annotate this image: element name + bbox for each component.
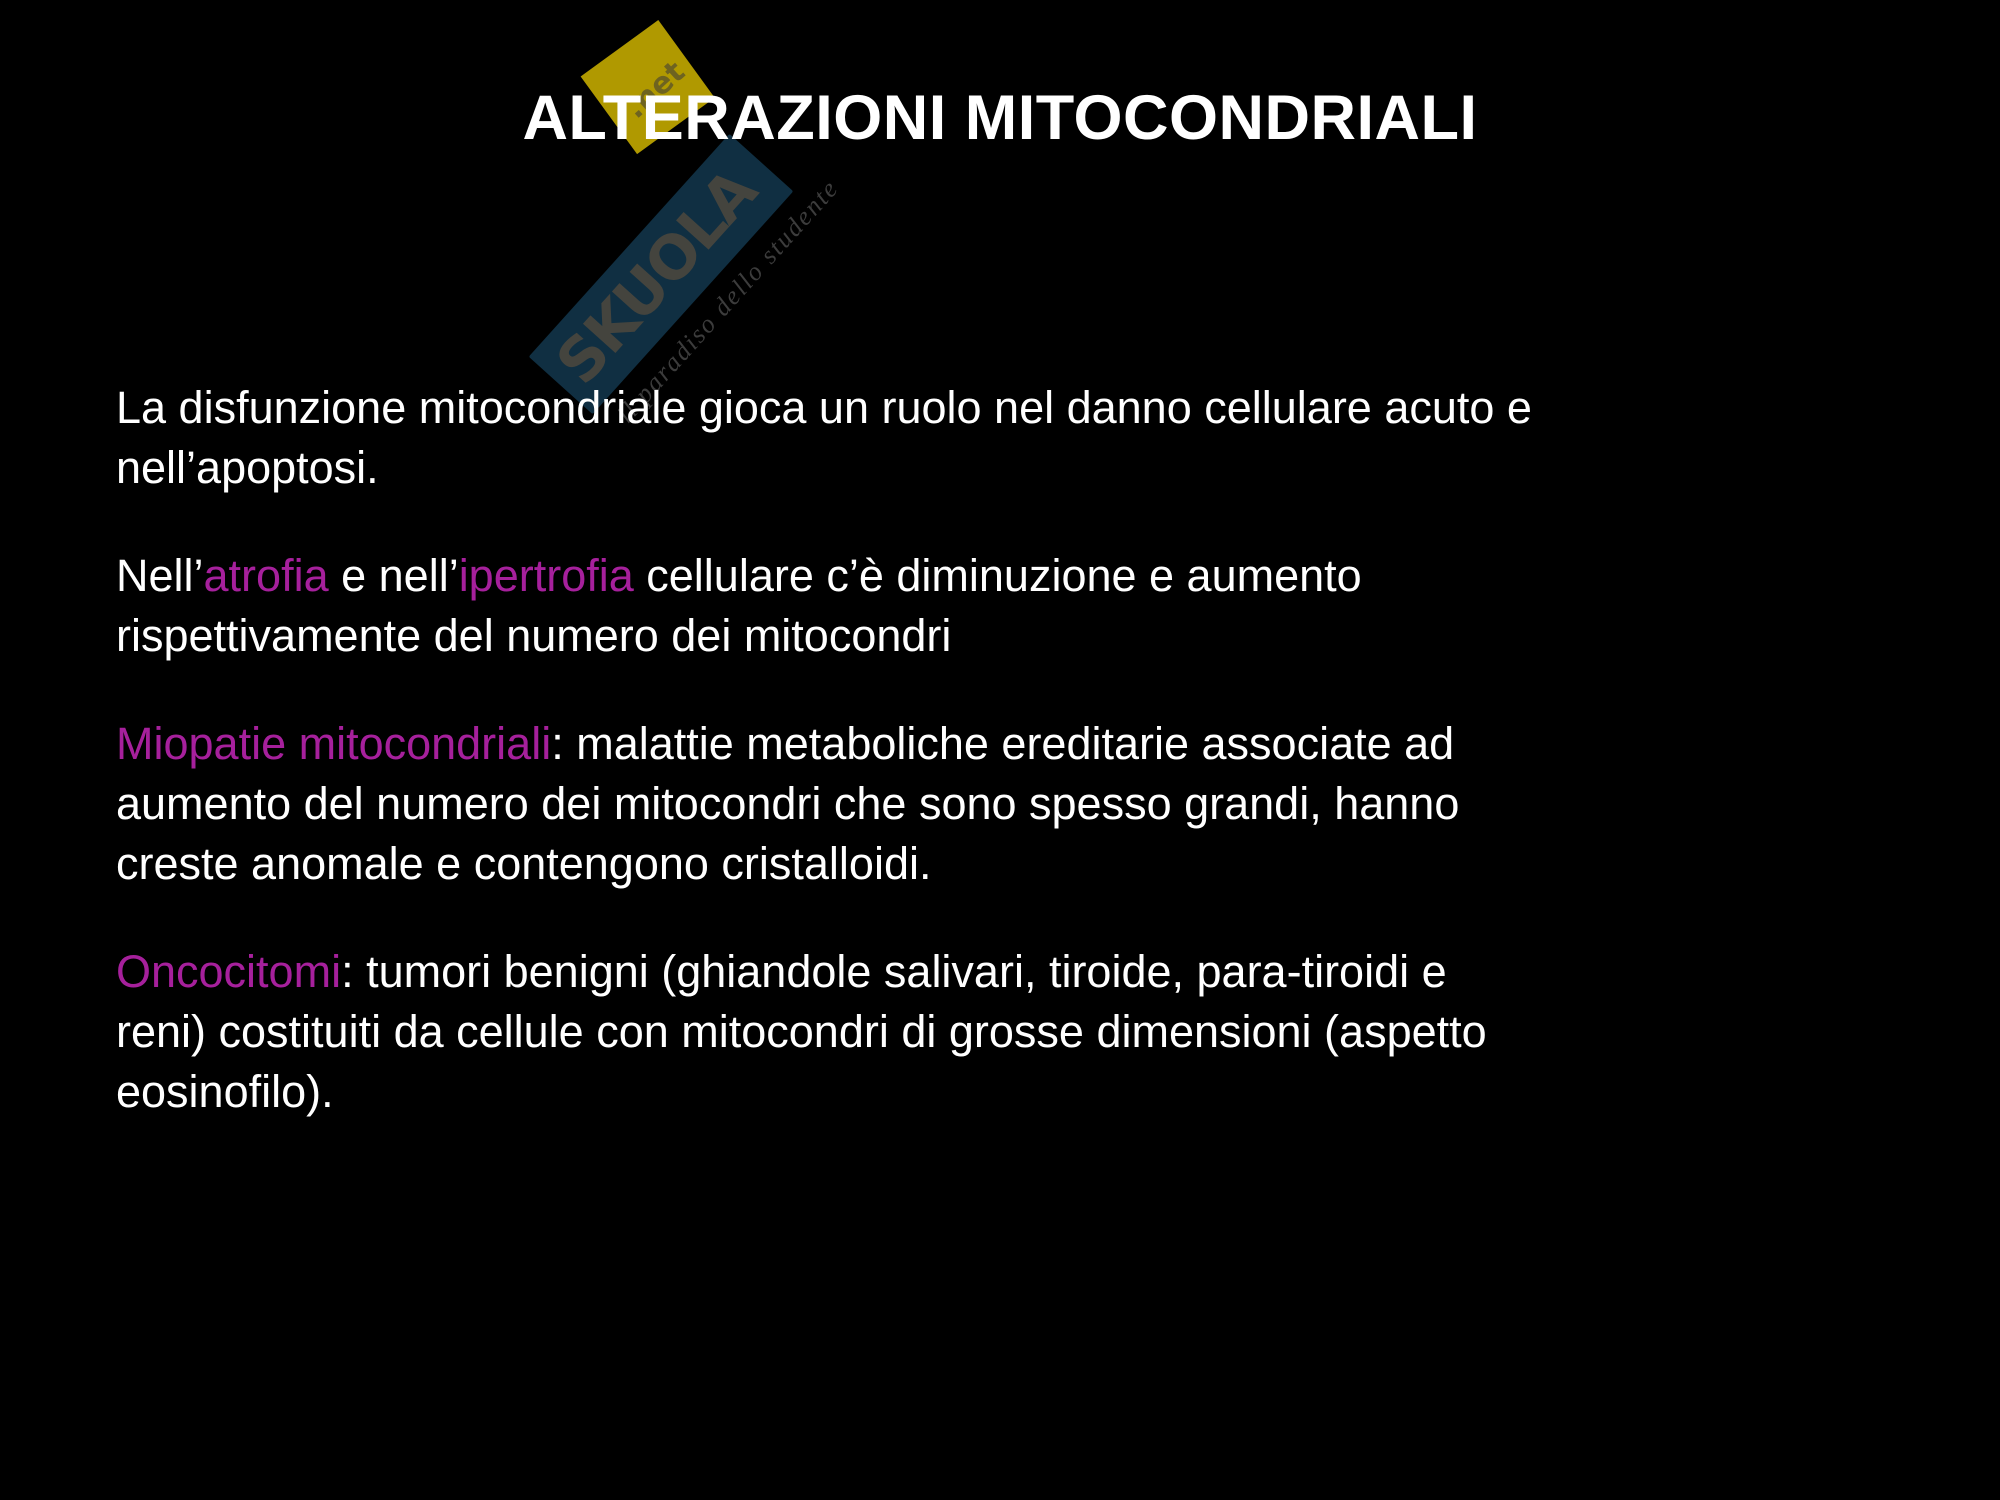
run-text: Nell’ [116,550,204,601]
highlight-ipertrofia: ipertrofia [459,550,634,601]
run-text: La disfunzione mitocondriale gioca un ru… [116,382,1532,493]
highlight-atrofia: atrofia [204,550,329,601]
slide-title: ALTERAZIONI MITOCONDRIALI [0,84,2000,153]
slide-canvas: SKUOLA .net il paradiso dello studente A… [0,0,2000,1500]
paragraph-intro: La disfunzione mitocondriale gioca un ru… [116,378,1546,498]
slide-body: La disfunzione mitocondriale gioca un ru… [116,378,1546,1122]
watermark-logo-box: SKUOLA [529,134,794,414]
paragraph-miopatie: Miopatie mitocondriali: malattie metabol… [116,714,1546,894]
highlight-miopatie-mitocondriali: Miopatie mitocondriali [116,718,551,769]
paragraph-oncocitomi: Oncocitomi: tumori benigni (ghiandole sa… [116,942,1546,1122]
run-text: e nell’ [329,550,459,601]
watermark-brand-text: SKUOLA [545,159,767,396]
paragraph-atrofia-ipertrofia: Nell’atrofia e nell’ipertrofia cellulare… [116,546,1546,666]
highlight-oncocitomi: Oncocitomi [116,946,341,997]
